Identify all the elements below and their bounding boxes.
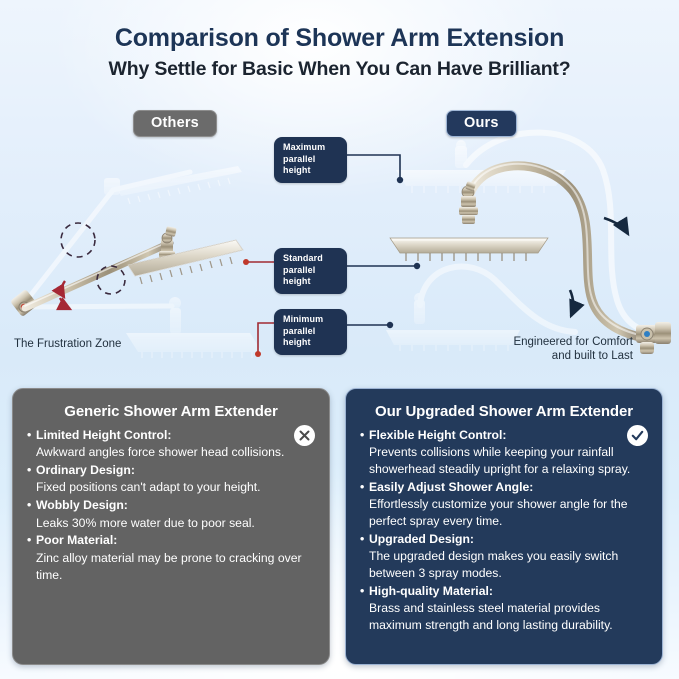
- card-bad-feature-list: •Limited Height Control: Awkward angles …: [27, 427, 315, 583]
- card-good-feature-list: •Flexible Height Control: Prevents colli…: [360, 427, 648, 634]
- others-product-art: [10, 166, 262, 358]
- callout-std-line1: Standard: [283, 253, 338, 265]
- others-swivel-joint: [159, 226, 177, 258]
- ours-wall-connector: [636, 322, 671, 354]
- caption-engineered-for-comfort: Engineered for Comfort and built to Last: [493, 335, 633, 364]
- feature-head-text: Poor Material:: [36, 533, 117, 547]
- list-item: •Flexible Height Control: Prevents colli…: [360, 427, 648, 478]
- others-ghost-raised: [23, 166, 242, 305]
- feature-head: •Upgraded Design:: [360, 531, 648, 548]
- comparison-infographic: Comparison of Shower Arm Extension Why S…: [0, 0, 679, 679]
- feature-head-text: High-quality Material:: [369, 584, 493, 598]
- feature-body: Prevents collisions while keeping your r…: [360, 444, 648, 478]
- list-item: •Ordinary Design: Fixed positions can't …: [27, 462, 315, 496]
- feature-head: •Poor Material:: [27, 532, 315, 549]
- feature-head-text: Wobbly Design:: [36, 498, 128, 512]
- callout-min-line2: parallel height: [283, 326, 338, 349]
- feature-head: •High-quality Material:: [360, 583, 648, 600]
- bullet-icon: •: [27, 427, 36, 444]
- callout-standard-parallel-height: Standard parallel height: [274, 248, 347, 294]
- callout-max-line1: Maximum: [283, 142, 338, 154]
- bullet-icon: •: [360, 479, 369, 496]
- badge-others: Others: [133, 110, 217, 137]
- feature-head-text: Limited Height Control:: [36, 428, 171, 442]
- friction-zone-markers: [61, 223, 125, 294]
- feature-body: Brass and stainless steel material provi…: [360, 600, 648, 634]
- feature-body: The upgraded design makes you easily swi…: [360, 548, 648, 582]
- callout-min-line1: Minimum: [283, 314, 338, 326]
- cross-icon: [294, 425, 315, 446]
- check-icon: [627, 425, 648, 446]
- feature-body: Fixed positions can't adapt to your heig…: [27, 479, 315, 496]
- list-item: •Wobbly Design: Leaks 30% more water due…: [27, 497, 315, 531]
- callout-maximum-parallel-height: Maximum parallel height: [274, 137, 347, 183]
- others-shower-head: [128, 240, 243, 284]
- list-item: •Poor Material: Zinc alloy material may …: [27, 532, 315, 583]
- callout-std-line2: parallel height: [283, 265, 338, 288]
- bullet-icon: •: [27, 532, 36, 549]
- callout-minimum-parallel-height: Minimum parallel height: [274, 309, 347, 355]
- feature-body: Effortlessly customize your shower angle…: [360, 496, 648, 530]
- list-item: •Limited Height Control: Awkward angles …: [27, 427, 315, 461]
- bullet-icon: •: [360, 427, 369, 444]
- card-bad-title: Generic Shower Arm Extender: [27, 403, 315, 420]
- feature-head-text: Flexible Height Control:: [369, 428, 506, 442]
- feature-head-text: Easily Adjust Shower Angle:: [369, 480, 533, 494]
- bullet-icon: •: [27, 462, 36, 479]
- feature-body: Awkward angles force shower head collisi…: [27, 444, 315, 461]
- ours-shower-head: [390, 238, 548, 261]
- caption-right-line1: Engineered for Comfort: [493, 335, 633, 349]
- feature-head: •Flexible Height Control:: [360, 427, 648, 444]
- badge-ours: Ours: [446, 110, 517, 137]
- feature-head: •Limited Height Control:: [27, 427, 315, 444]
- comparison-cards: Generic Shower Arm Extender •Limited Hei…: [0, 388, 679, 673]
- caption-right-line2: and built to Last: [493, 349, 633, 363]
- feature-head: •Wobbly Design:: [27, 497, 315, 514]
- bullet-icon: •: [360, 583, 369, 600]
- caption-frustration-zone: The Frustration Zone: [14, 337, 121, 351]
- feature-head: •Ordinary Design:: [27, 462, 315, 479]
- bullet-icon: •: [360, 531, 369, 548]
- feature-head: •Easily Adjust Shower Angle:: [360, 479, 648, 496]
- list-item: •Easily Adjust Shower Angle: Effortlessl…: [360, 479, 648, 530]
- card-generic-extender: Generic Shower Arm Extender •Limited Hei…: [12, 388, 330, 665]
- list-item: •High-quality Material: Brass and stainl…: [360, 583, 648, 634]
- ours-product-art: [386, 133, 671, 354]
- feature-head-text: Ordinary Design:: [36, 463, 135, 477]
- bullet-icon: •: [27, 497, 36, 514]
- card-upgraded-extender: Our Upgraded Shower Arm Extender •Flexib…: [345, 388, 663, 665]
- feature-head-text: Upgraded Design:: [369, 532, 474, 546]
- callout-max-line2: parallel height: [283, 154, 338, 177]
- card-good-title: Our Upgraded Shower Arm Extender: [360, 403, 648, 420]
- list-item: •Upgraded Design: The upgraded design ma…: [360, 531, 648, 582]
- feature-body: Zinc alloy material may be prone to crac…: [27, 550, 315, 584]
- feature-body: Leaks 30% more water due to poor seal.: [27, 515, 315, 532]
